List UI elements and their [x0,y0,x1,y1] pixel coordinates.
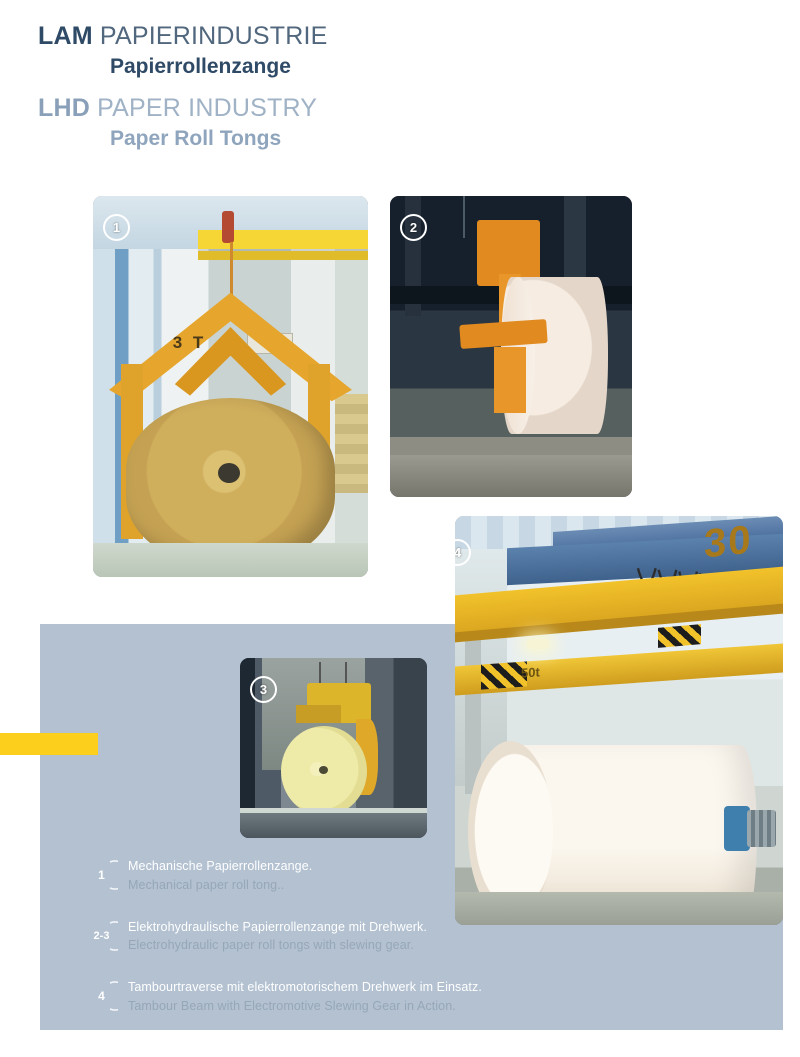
floor [455,892,783,925]
caption-item-1: 1 Mechanische Papierrollenzange. Mechani… [90,857,490,895]
caption-2-german: Elektrohydraulische Papierrollenzange mi… [128,918,490,937]
caption-item-3: 4 Tambourtraverse mit elektromotorischem… [90,978,490,1016]
page-header: LAM PAPIERINDUSTRIE Papierrollenzange LH… [38,22,558,150]
caption-3-english: Tambour Beam with Electromotive Slewing … [128,997,490,1016]
photo-mechanical-paper-roll-tong: 3 T 1 [93,196,368,577]
caption-badge-1-number: 1 [90,860,113,890]
brand-lhd: LHD [38,94,90,122]
caption-3-german: Tambourtraverse mit elektromotorischem D… [128,978,490,997]
photo-badge-1: 1 [103,214,130,241]
crane-number-label: 30 [704,518,753,568]
brand-lam: LAM [38,22,93,50]
paper-roll-stack [335,394,368,493]
industry-de: PAPIERINDUSTRIE [100,22,328,50]
caption-badge-1: 1 [90,860,118,890]
caption-item-2: 2-3 Elektrohydraulische Papierrollenzang… [90,918,490,956]
tong-pressure-plate [494,347,525,413]
caption-badge-2-number: 2-3 [90,921,113,951]
product-title-german: Papierrollenzange [38,55,558,79]
caption-badge-3: 4 [90,981,118,1011]
hall-lamp-icon [527,639,549,649]
crane-hook-icon [222,211,234,243]
photo-4-scene: 30 50t [455,516,783,925]
heading-german-company: LAM PAPIERINDUSTRIE [38,22,558,50]
crane-capacity-label: 50t [521,665,540,681]
photo-badge-2: 2 [400,214,427,241]
photo-electrohydraulic-tong-dark-hall: 2 [390,196,632,497]
hazard-stripes-right [658,625,701,649]
caption-badge-2: 2-3 [90,921,118,951]
hanging-cable [463,196,465,238]
roll-core-hole [218,463,240,483]
accent-bar [0,733,98,755]
caption-2-english: Electrohydraulic paper roll tongs with s… [128,936,490,955]
caption-1-german: Mechanische Papierrollenzange. [128,857,490,876]
photo-badge-3: 3 [250,676,277,703]
roll-chuck-shaft [747,810,777,847]
caption-1-english: Mechanical paper roll tong.. [128,876,490,895]
slewing-gear-housing [296,705,341,723]
industry-en: PAPER INDUSTRY [97,94,317,122]
heading-english-company: LHD PAPER INDUSTRY [38,94,558,122]
photo-tong-with-slewing-gear: 3 [240,658,427,838]
photo-tambour-beam-crane: 30 50t 4 [455,516,783,925]
photo-1-scene: 3 T [93,196,368,577]
yellow-crane-beam-shadow [198,251,369,259]
caption-badge-3-number: 4 [90,981,113,1011]
floor [240,813,427,838]
product-title-english: Paper Roll Tongs [38,127,558,151]
floor [93,543,368,577]
photo-2-scene [390,196,632,497]
load-capacity-mark: 3 T [173,333,207,353]
caption-list: 1 Mechanische Papierrollenzange. Mechani… [90,857,490,1039]
floor [390,455,632,497]
